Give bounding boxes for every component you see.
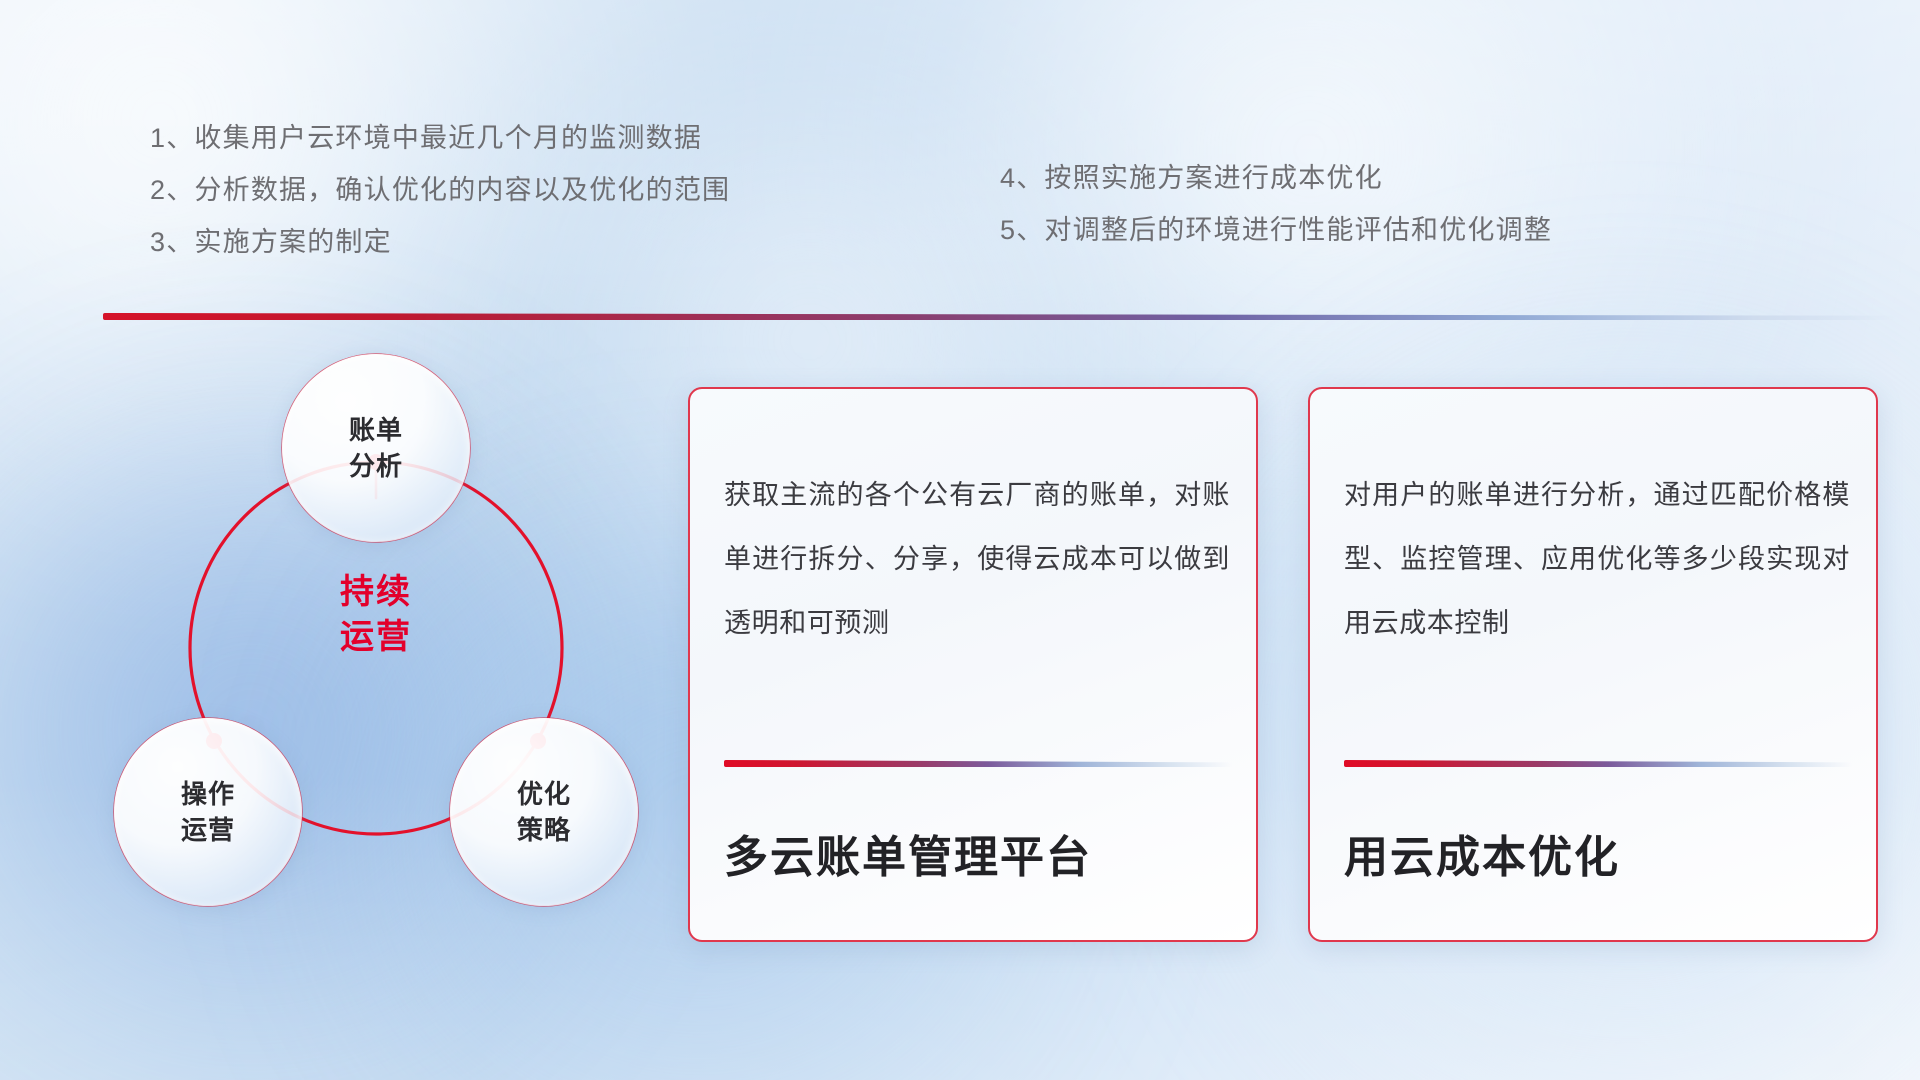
- bubble-bill-analysis[interactable]: 账单 分析: [282, 354, 470, 542]
- step-item: 5、对调整后的环境进行性能评估和优化调整: [1000, 204, 1552, 256]
- card-accent-rule: [1344, 760, 1852, 767]
- step-item: 4、按照实施方案进行成本优化: [1000, 152, 1552, 204]
- center-label-line1: 持续: [340, 573, 412, 611]
- bubble-label: 操作 运营: [181, 776, 235, 848]
- step-item: 2、分析数据，确认优化的内容以及优化的范围: [150, 164, 730, 216]
- card-title: 用云成本优化: [1344, 821, 1852, 885]
- bubble-label-line1: 优化: [517, 779, 571, 809]
- card-cloud-cost-optimization[interactable]: 对用户的账单进行分析，通过匹配价格模型、监控管理、应用优化等多少段实现对用云成本…: [1308, 387, 1878, 942]
- center-label-line2: 运营: [340, 618, 412, 656]
- card-accent-rule: [724, 760, 1232, 767]
- step-item: 1、收集用户云环境中最近几个月的监测数据: [150, 112, 730, 164]
- card-body-text: 获取主流的各个公有云厂商的账单，对账单进行拆分、分享，使得云成本可以做到透明和可…: [724, 463, 1230, 655]
- card-multi-cloud-billing-platform[interactable]: 获取主流的各个公有云厂商的账单，对账单进行拆分、分享，使得云成本可以做到透明和可…: [688, 387, 1258, 942]
- bubble-label: 账单 分析: [349, 412, 403, 484]
- card-title: 多云账单管理平台: [724, 821, 1232, 885]
- bubble-label-line1: 账单: [349, 415, 403, 445]
- bubble-optimize-strategy[interactable]: 优化 策略: [450, 718, 638, 906]
- bubble-label: 优化 策略: [517, 776, 571, 848]
- steps-list-right: 4、按照实施方案进行成本优化 5、对调整后的环境进行性能评估和优化调整: [1000, 152, 1552, 256]
- continuous-operation-diagram: 账单 分析 操作 运营 优化 策略 持续 运营: [96, 348, 656, 948]
- steps-list-left: 1、收集用户云环境中最近几个月的监测数据 2、分析数据，确认优化的内容以及优化的…: [150, 112, 730, 268]
- diagram-center-label: 持续 运营: [280, 570, 472, 660]
- bubble-label-line2: 分析: [349, 451, 403, 481]
- step-item: 3、实施方案的制定: [150, 216, 730, 268]
- bubble-label-line2: 运营: [181, 815, 235, 845]
- bubble-ops-operation[interactable]: 操作 运营: [114, 718, 302, 906]
- bubble-label-line2: 策略: [517, 815, 571, 845]
- bubble-label-line1: 操作: [181, 779, 235, 809]
- card-body-text: 对用户的账单进行分析，通过匹配价格模型、监控管理、应用优化等多少段实现对用云成本…: [1344, 463, 1850, 655]
